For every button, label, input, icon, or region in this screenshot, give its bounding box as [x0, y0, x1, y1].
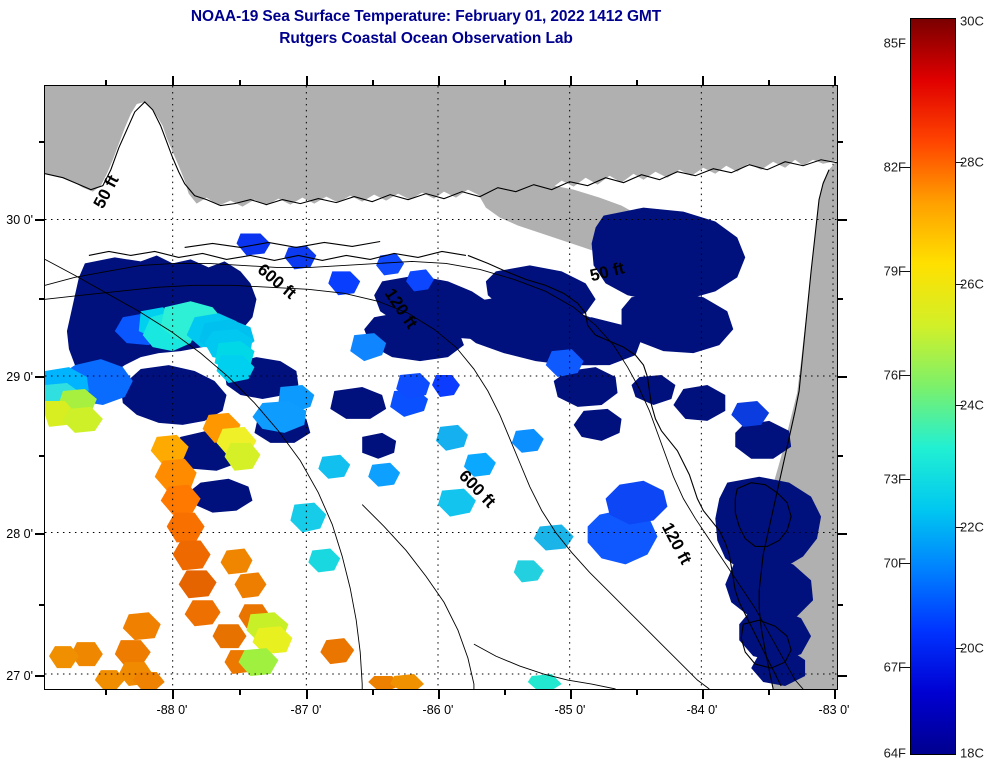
cb-tick-left-73f	[903, 479, 910, 480]
cb-label-22c: 22C	[960, 520, 984, 535]
cb-label-30c: 30C	[960, 14, 984, 29]
ytick-label-0: 30 0'	[0, 213, 33, 227]
colorbar-gradient	[910, 18, 956, 755]
xtick-top-major-2	[306, 76, 308, 85]
ytick-right-minor-1	[838, 141, 843, 143]
xtick-label-5: -83 0'	[819, 703, 850, 717]
ytick-major-30	[35, 219, 44, 221]
title-line-2: Rutgers Coastal Ocean Observation Lab	[0, 28, 852, 50]
ytick-right-major-2	[838, 376, 847, 378]
ytick-label-2: 28 0'	[0, 527, 33, 541]
xtick-top-minor-2	[239, 80, 241, 85]
ytick-right-minor-4	[838, 604, 843, 606]
xtick-minor-2	[239, 690, 241, 695]
xtick-major--88	[172, 690, 174, 699]
figure-title: NOAA-19 Sea Surface Temperature: Februar…	[0, 6, 852, 50]
map-graphics: 50 ft 50 ft 120 ft 120 ft 600 ft 600 ft	[45, 86, 837, 689]
xtick-minor-3	[372, 690, 374, 695]
xtick-major--86	[438, 690, 440, 699]
xtick-top-minor-1	[105, 80, 107, 85]
xtick-top-major-3	[438, 76, 440, 85]
xtick-minor-4	[504, 690, 506, 695]
cb-tick-left-70f	[903, 563, 910, 564]
ytick-right-minor-2	[838, 298, 843, 300]
cb-label-64f: 64F	[884, 746, 906, 761]
xtick-top-minor-6	[768, 80, 770, 85]
xtick-label-2: -86 0'	[423, 703, 454, 717]
ytick-minor-3	[39, 455, 44, 457]
cb-label-20c: 20C	[960, 641, 984, 656]
cb-tick-left-76f	[903, 375, 910, 376]
ytick-minor-4	[39, 604, 44, 606]
xtick-label-3: -85 0'	[555, 703, 586, 717]
map-plot-area: 50 ft 50 ft 120 ft 120 ft 600 ft 600 ft	[44, 85, 838, 690]
xtick-minor-6	[768, 690, 770, 695]
xtick-major--84	[702, 690, 704, 699]
xtick-top-major-5	[702, 76, 704, 85]
xtick-top-minor-3	[372, 80, 374, 85]
xtick-label-0: -88 0'	[157, 703, 188, 717]
cb-tick-right-20c	[956, 648, 963, 649]
xtick-label-1: -87 0'	[291, 703, 322, 717]
xtick-top-major-6	[834, 76, 836, 85]
xtick-major--83	[834, 690, 836, 699]
cb-label-18c: 18C	[960, 746, 984, 761]
map-canvas: 50 ft 50 ft 120 ft 120 ft 600 ft 600 ft	[45, 86, 837, 689]
ytick-major-29	[35, 376, 44, 378]
ytick-label-1: 29 0'	[0, 370, 33, 384]
xtick-major--87	[306, 690, 308, 699]
cb-label-85f: 85F	[884, 36, 906, 51]
ytick-right-major-1	[838, 219, 847, 221]
ytick-label-3: 27 0'	[0, 669, 33, 683]
xtick-major--85	[570, 690, 572, 699]
ytick-minor-2	[39, 298, 44, 300]
cb-label-28c: 28C	[960, 155, 984, 170]
sst-map-figure: NOAA-19 Sea Surface Temperature: Februar…	[0, 0, 992, 770]
cb-label-26c: 26C	[960, 277, 984, 292]
cb-label-24c: 24C	[960, 398, 984, 413]
xtick-top-major-4	[570, 76, 572, 85]
title-line-1: NOAA-19 Sea Surface Temperature: Februar…	[0, 6, 852, 28]
xtick-top-minor-4	[504, 80, 506, 85]
cb-tick-left-79f	[903, 271, 910, 272]
cb-tick-right-24c	[956, 405, 963, 406]
ytick-right-minor-3	[838, 455, 843, 457]
ytick-major-27	[35, 675, 44, 677]
ytick-right-major-4	[838, 675, 847, 677]
cb-tick-right-22c	[956, 527, 963, 528]
xtick-label-4: -84 0'	[687, 703, 718, 717]
ytick-minor-1	[39, 141, 44, 143]
cb-tick-left-67f	[903, 667, 910, 668]
cb-tick-left-82f	[903, 167, 910, 168]
xtick-minor-1	[105, 690, 107, 695]
xtick-minor-5	[636, 690, 638, 695]
cb-tick-right-28c	[956, 162, 963, 163]
cb-tick-right-26c	[956, 284, 963, 285]
xtick-top-major-1	[172, 76, 174, 85]
colorbar: 85F 82F 79F 76F 73F 70F 67F 64F 30C 28C …	[910, 18, 956, 755]
ytick-right-major-3	[838, 533, 847, 535]
xtick-top-minor-5	[636, 80, 638, 85]
ytick-major-28	[35, 533, 44, 535]
